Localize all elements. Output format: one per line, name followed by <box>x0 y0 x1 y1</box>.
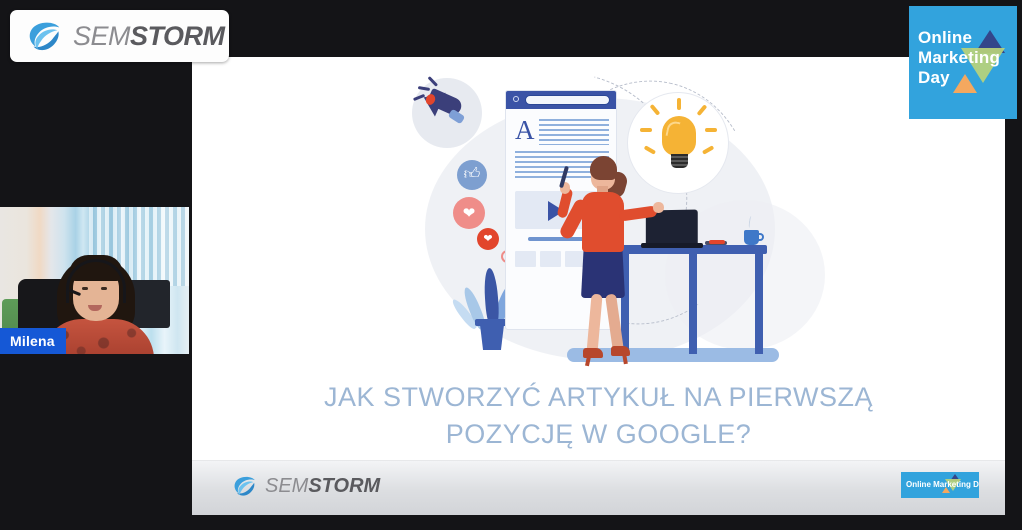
browser-header-bar <box>506 91 616 109</box>
lightbulb-ray <box>705 128 717 132</box>
content-marketing-illustration: 👍︎ ❤︎ ❤︎ <box>397 60 817 360</box>
participant-eye-left <box>82 287 88 290</box>
woman-torso <box>582 192 624 252</box>
footer-online-marketing-day-badge: Online Marketing Day <box>901 472 979 498</box>
woman-hand-right <box>653 202 664 213</box>
slide-title-line-2: POZYCJĘ W GOOGLE? <box>192 416 1005 453</box>
heart-icon-small: ❤︎ <box>477 228 499 250</box>
semstorm-wordmark-storm: STORM <box>130 21 225 51</box>
semstorm-wordmark-sem: SEM <box>73 21 130 51</box>
plant-pot <box>478 322 506 350</box>
thumbs-up-icon: 👍︎ <box>457 160 487 190</box>
semstorm-swirl-icon <box>26 17 64 55</box>
coffee-mug-icon <box>744 230 759 245</box>
online-marketing-day-badge: Online Marketing Day <box>909 6 1017 119</box>
desk-leg <box>755 254 763 354</box>
participant-eye-right <box>101 287 107 290</box>
participant-video-tile[interactable]: Milena <box>0 207 189 354</box>
semstorm-wordmark: SEMSTORM <box>73 23 225 50</box>
presentation-slide: 👍︎ ❤︎ ❤︎ <box>192 57 1005 515</box>
document-drop-cap: A <box>515 117 535 144</box>
lightbulb-ray <box>640 128 652 132</box>
desk-leg <box>689 254 697 354</box>
document-text-lines <box>539 119 609 145</box>
online-marketing-day-text: Online Marketing Day <box>918 28 1000 88</box>
slide-canvas: 👍︎ ❤︎ ❤︎ <box>192 57 1005 515</box>
participant-name-badge: Milena <box>0 328 66 354</box>
woman-shoe <box>611 346 630 356</box>
pen-red <box>709 240 725 244</box>
search-input <box>525 95 610 105</box>
footer-semstorm-wordmark: SEMSTORM <box>265 476 380 496</box>
laptop-base <box>641 243 703 248</box>
footer-semstorm-logo: SEMSTORM <box>232 473 380 499</box>
heart-icon-large: ❤︎ <box>453 197 485 229</box>
omd-line-3: Day <box>918 68 1000 88</box>
lightbulb-ray <box>677 98 681 110</box>
footer-wordmark-sem: SEM <box>265 475 308 497</box>
woman-hair <box>590 156 617 180</box>
semstorm-logo-overlay: SEMSTORM <box>10 10 229 62</box>
footer-wordmark-storm: STORM <box>308 475 380 497</box>
screen-share-window: SEMSTORM Online Marketing Day Milena <box>0 0 1022 530</box>
woman-shoe <box>583 348 603 358</box>
woman-skirt <box>581 248 625 298</box>
search-icon <box>513 96 519 102</box>
slide-footer: SEMSTORM Online Marketing Day <box>192 460 1005 515</box>
footer-omd-text: Online Marketing Day <box>906 480 979 489</box>
omd-line-1: Online <box>918 28 1000 48</box>
lightbulb-base <box>671 154 688 168</box>
slide-title: JAK STWORZYĆ ARTYKUŁ NA PIERWSZĄ POZYCJĘ… <box>192 379 1005 454</box>
omd-line-2: Marketing <box>918 48 1000 68</box>
slide-title-line-1: JAK STWORZYĆ ARTYKUŁ NA PIERWSZĄ <box>192 379 1005 416</box>
semstorm-swirl-icon <box>232 473 258 499</box>
